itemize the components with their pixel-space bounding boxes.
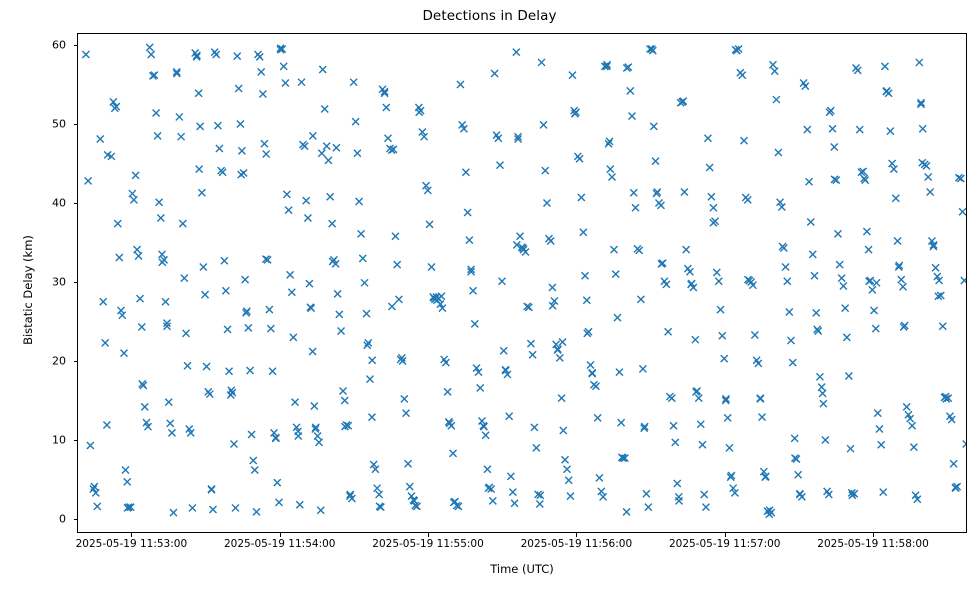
x-tick-label: 2025-05-19 11:53:00 (76, 538, 188, 550)
y-tick-label: 60 (0, 38, 66, 51)
chart-figure: Detections in Delay 2025-05-19 11:53:002… (0, 0, 979, 590)
x-tick-label: 2025-05-19 11:57:00 (669, 538, 781, 550)
x-tick-mark (280, 533, 281, 537)
y-tick-label: 50 (0, 117, 66, 130)
y-tick-mark (74, 203, 78, 204)
x-tick-mark (576, 533, 577, 537)
chart-title: Detections in Delay (0, 8, 979, 24)
x-tick-label: 2025-05-19 11:58:00 (817, 538, 929, 550)
y-tick-mark (74, 519, 78, 520)
y-tick-label: 10 (0, 433, 66, 446)
x-axis-label: Time (UTC) (77, 562, 967, 576)
y-axis-label: Bistatic Delay (km) (21, 160, 35, 420)
x-tick-mark (131, 533, 132, 537)
x-tick-label: 2025-05-19 11:56:00 (521, 538, 633, 550)
x-tick-label: 2025-05-19 11:55:00 (372, 538, 484, 550)
x-tick-mark (725, 533, 726, 537)
y-tick-label: 0 (0, 512, 66, 525)
y-tick-mark (74, 361, 78, 362)
y-tick-mark (74, 282, 78, 283)
x-tick-mark (873, 533, 874, 537)
plot-area (77, 33, 967, 533)
x-tick-label: 2025-05-19 11:54:00 (224, 538, 336, 550)
scatter-series (78, 34, 967, 533)
x-tick-mark (428, 533, 429, 537)
y-tick-mark (74, 440, 78, 441)
y-tick-mark (74, 124, 78, 125)
y-tick-mark (74, 45, 78, 46)
